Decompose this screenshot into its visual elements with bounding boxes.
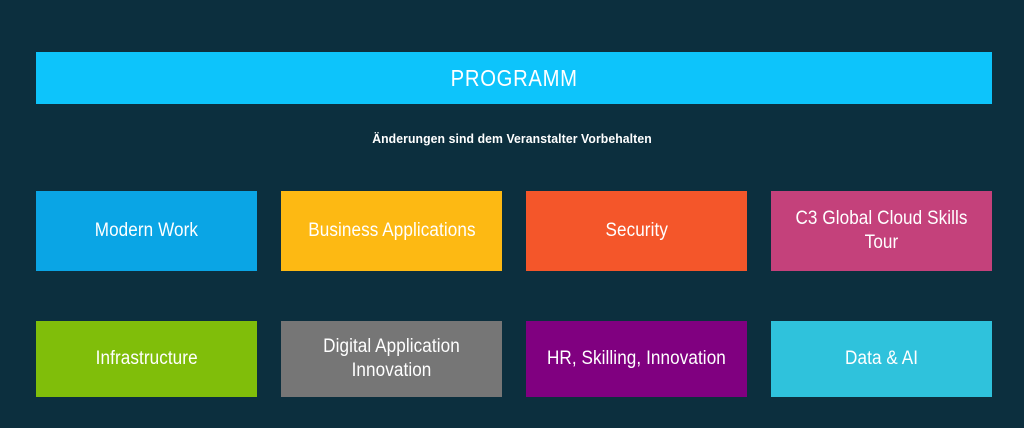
topic-tile-security[interactable]: Security [526, 191, 747, 271]
topic-tile-label: Infrastructure [95, 347, 197, 371]
disclaimer-text: Änderungen sind dem Veranstalter Vorbeha… [31, 131, 994, 146]
topic-tile-label: C3 Global Cloud Skills Tour [789, 207, 974, 256]
topic-tile-digital-application-innovation[interactable]: Digital Application Innovation [281, 321, 502, 397]
programm-banner: PROGRAMM [36, 52, 992, 104]
topic-tile-modern-work[interactable]: Modern Work [36, 191, 257, 271]
topic-tile-label: Business Applications [308, 219, 475, 243]
topic-row-2: Infrastructure Digital Application Innov… [36, 321, 992, 397]
topic-tile-data-and-ai[interactable]: Data & AI [771, 321, 992, 397]
page-title: PROGRAMM [450, 67, 577, 90]
topic-tile-label: Security [605, 219, 667, 243]
topic-tile-c3-global-cloud-skills-tour[interactable]: C3 Global Cloud Skills Tour [771, 191, 992, 271]
programm-slide: PROGRAMM Änderungen sind dem Veranstalte… [0, 0, 1024, 428]
topic-tile-infrastructure[interactable]: Infrastructure [36, 321, 257, 397]
topic-tile-label: HR, Skilling, Innovation [547, 347, 726, 371]
topic-tile-business-applications[interactable]: Business Applications [281, 191, 502, 271]
topic-tile-hr-skilling-innovation[interactable]: HR, Skilling, Innovation [526, 321, 747, 397]
topic-tile-label: Data & AI [845, 347, 918, 371]
topic-tile-label: Modern Work [95, 219, 198, 243]
topic-tile-label: Digital Application Innovation [299, 335, 484, 384]
topic-row-1: Modern Work Business Applications Securi… [36, 191, 992, 271]
